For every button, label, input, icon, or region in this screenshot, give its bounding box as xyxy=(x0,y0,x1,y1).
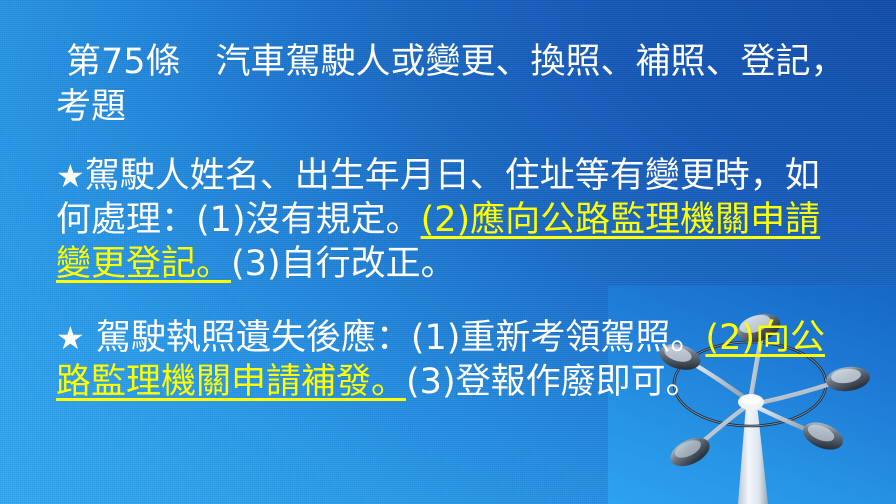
paragraph-1-run-3: (3)自行改正。 xyxy=(231,244,456,284)
star-bullet-icon-2: ★ xyxy=(56,319,85,357)
spacer-between-paragraphs xyxy=(56,286,846,316)
paragraph-2-run-3: (3)登報作廢即可。 xyxy=(406,362,701,402)
slide-canvas: 第75條 汽車駕駛人或變更、換照、補照、登記，考題 ★駕駛人姓名、出生年月日、住… xyxy=(0,0,896,504)
bullet-paragraph-2: ★ 駕駛執照遺失後應：(1)重新考領駕照。(2)向公路監理機關申請補發。(3)登… xyxy=(56,316,846,404)
slide-text-container: 第75條 汽車駕駛人或變更、換照、補照、登記，考題 ★駕駛人姓名、出生年月日、住… xyxy=(56,40,846,404)
page-title: 第75條 汽車駕駛人或變更、換照、補照、登記，考題 xyxy=(56,40,846,130)
paragraph-2-marker-space xyxy=(85,318,96,358)
spacer-after-title xyxy=(56,130,846,154)
star-bullet-icon: ★ xyxy=(56,157,85,195)
bullet-paragraph-1: ★駕駛人姓名、出生年月日、住址等有變更時，如何處理：(1)沒有規定。(2)應向公… xyxy=(56,154,846,286)
paragraph-2-run-1: 駕駛執照遺失後應：(1)重新考領駕照。 xyxy=(96,318,706,358)
